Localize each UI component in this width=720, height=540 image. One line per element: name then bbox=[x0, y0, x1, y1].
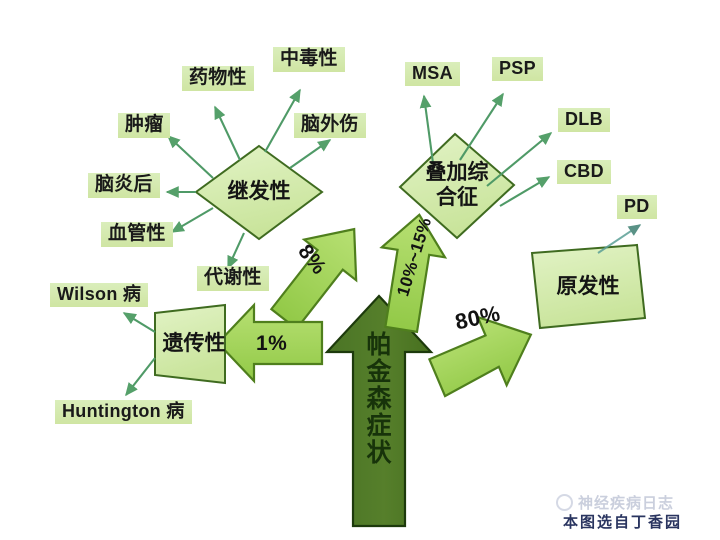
leaf-label-pd[interactable]: PD bbox=[617, 195, 657, 219]
leaf-label-cbd[interactable]: CBD bbox=[557, 160, 611, 184]
diagram-canvas: 药物性 中毒性 脑外伤 肿瘤 脑炎后 血管性 代谢性 MSA PSP DLB C… bbox=[0, 0, 720, 540]
leaf-label-brain-trauma[interactable]: 脑外伤 bbox=[294, 113, 366, 138]
watermark-logo-icon bbox=[556, 494, 573, 511]
leaf-label-psp[interactable]: PSP bbox=[492, 57, 543, 81]
node-shape-primary[interactable] bbox=[532, 245, 645, 328]
diagram-vector-layer bbox=[0, 0, 720, 540]
leaf-label-vascular[interactable]: 血管性 bbox=[101, 222, 173, 247]
arrow-80-percent bbox=[422, 301, 546, 409]
leaf-label-metabolic[interactable]: 代谢性 bbox=[197, 266, 269, 291]
leaf-label-toxic[interactable]: 中毒性 bbox=[273, 47, 345, 72]
watermark-account-name: 神经疾病日志 bbox=[578, 492, 674, 513]
leaf-label-wilson[interactable]: Wilson 病 bbox=[50, 283, 148, 307]
leaf-label-post-encephalitic[interactable]: 脑炎后 bbox=[88, 173, 160, 198]
leaf-label-drug-induced[interactable]: 药物性 bbox=[182, 66, 254, 91]
watermark-credit: 本图选自丁香园 bbox=[563, 511, 682, 532]
leaf-label-msa[interactable]: MSA bbox=[405, 62, 460, 86]
connector-arrows-hereditary bbox=[124, 313, 155, 395]
leaf-label-dlb[interactable]: DLB bbox=[558, 108, 610, 132]
node-shape-hereditary[interactable] bbox=[155, 305, 225, 383]
leaf-label-huntington[interactable]: Huntington 病 bbox=[55, 400, 192, 424]
leaf-label-tumor[interactable]: 肿瘤 bbox=[118, 113, 170, 138]
